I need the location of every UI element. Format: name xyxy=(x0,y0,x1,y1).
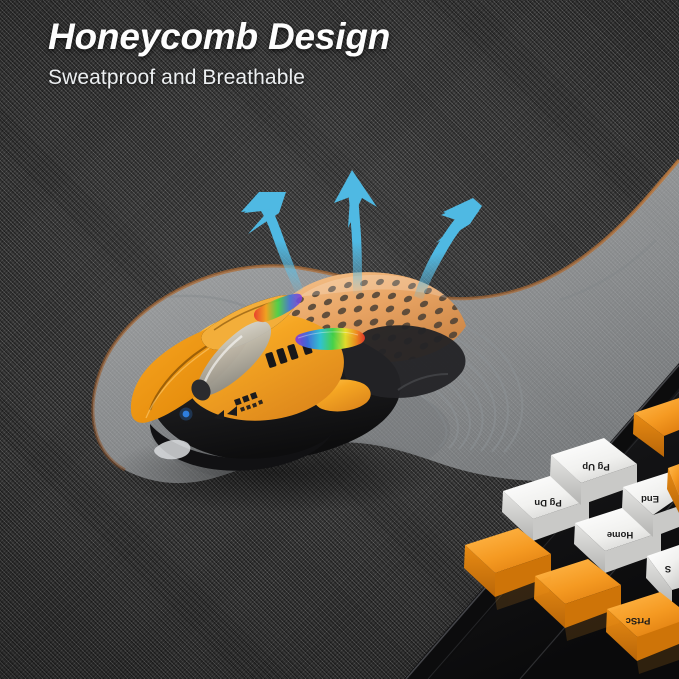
airflow-arrows-group xyxy=(0,0,679,679)
airflow-arrow-left xyxy=(241,192,303,294)
airflow-arrow-right xyxy=(414,198,482,300)
page-subtitle: Sweatproof and Breathable xyxy=(48,66,390,90)
page-title: Honeycomb Design xyxy=(48,18,390,57)
product-marketing-image: Pg Dn Pg Up Home End xyxy=(0,0,679,679)
headline-block: Honeycomb Design Sweatproof and Breathab… xyxy=(48,18,390,90)
airflow-arrow-center xyxy=(334,170,377,296)
